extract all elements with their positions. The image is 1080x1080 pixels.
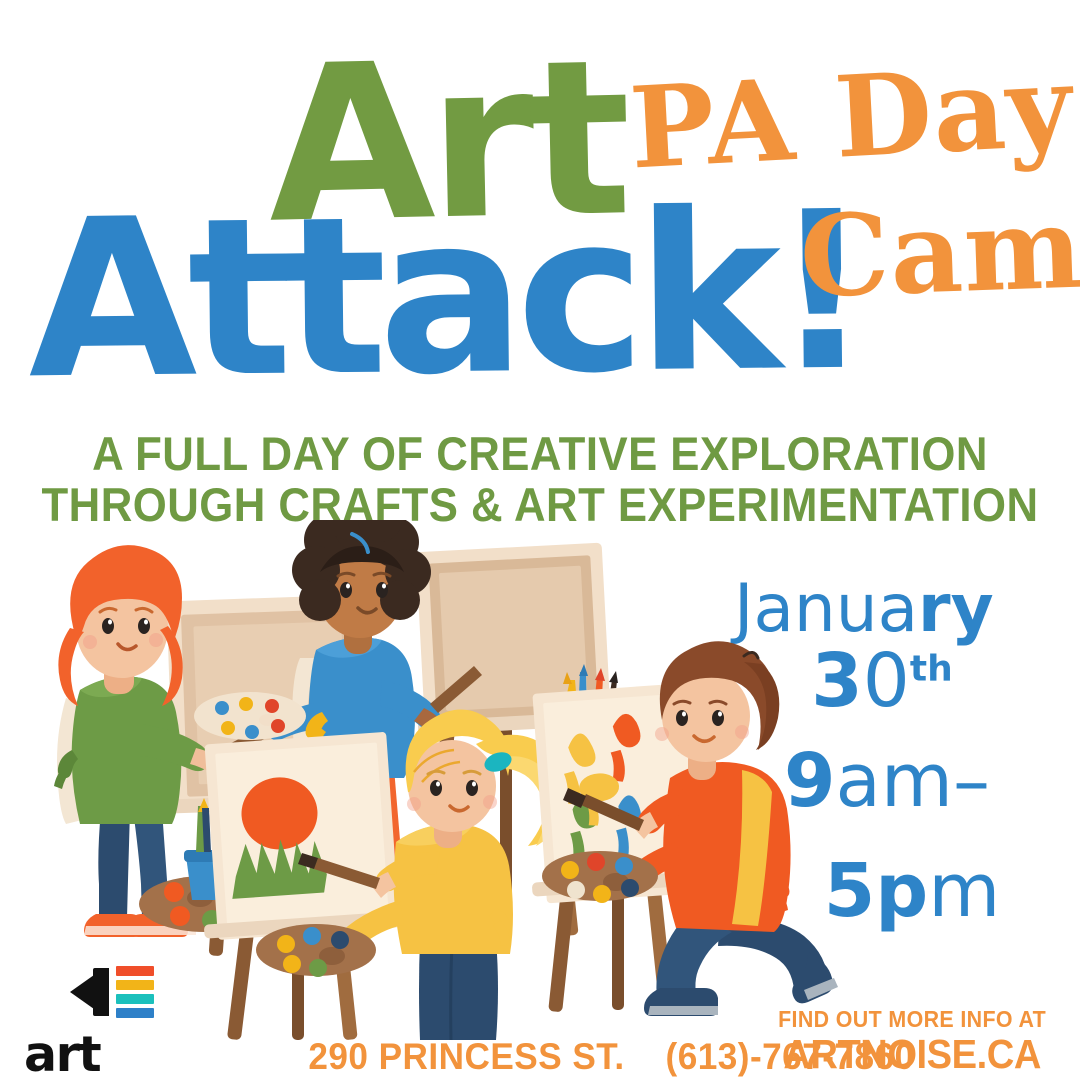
footer-website-url[interactable]: ARTNOISE.CA bbox=[778, 1031, 1046, 1078]
sound-bar-4 bbox=[116, 1008, 154, 1018]
poster-canvas: Art Attack! PA Day Camp A FULL DAY OF CR… bbox=[0, 0, 1080, 1080]
art-noise-logo[interactable]: art noise bbox=[24, 966, 224, 1080]
subtitle: A FULL DAY OF CREATIVE EXPLORATION THROU… bbox=[0, 428, 1080, 530]
subtitle-line-1: A FULL DAY OF CREATIVE EXPLORATION bbox=[38, 428, 1042, 479]
illustration-scene bbox=[0, 520, 1080, 1040]
title-attack: Attack! bbox=[27, 184, 864, 411]
sound-bar-3 bbox=[116, 994, 154, 1004]
footer-info-label: FIND OUT MORE INFO AT bbox=[778, 1006, 1046, 1033]
badge-pa-day: PA Day bbox=[627, 50, 1075, 185]
footer-contact: 290 PRINCESS ST.(613)-767-7860 bbox=[300, 1036, 800, 1078]
sound-bars bbox=[116, 966, 154, 1018]
footer-address: 290 PRINCESS ST. bbox=[308, 1036, 624, 1078]
footer-website-block[interactable]: FIND OUT MORE INFO AT ARTNOISE.CA bbox=[768, 1006, 1056, 1078]
logo-wordmark: art noise bbox=[24, 1026, 224, 1080]
speaker-icon bbox=[70, 966, 156, 1018]
speaker-body bbox=[93, 968, 109, 1016]
badge-camp: Camp bbox=[798, 190, 1080, 315]
sound-bar-1 bbox=[116, 966, 154, 976]
speaker-cone bbox=[70, 975, 94, 1009]
sound-bar-2 bbox=[116, 980, 154, 990]
